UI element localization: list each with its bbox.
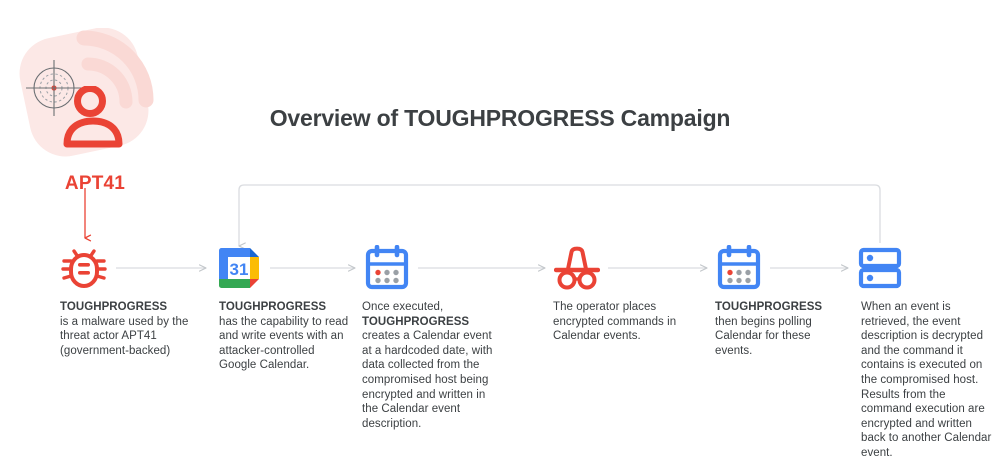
- calendar-event-icon: [364, 245, 410, 291]
- threat-actor-person-icon: [62, 86, 128, 148]
- calendar-event-icon: [716, 245, 762, 291]
- step-6-body: When an event is retrieved, the event de…: [861, 301, 991, 459]
- step-text-5: TOUGHPROGRESS then begins polling Calend…: [715, 300, 835, 358]
- step-text-3: Once executed, TOUGHPROGRESS creates a C…: [362, 300, 504, 431]
- step-text-6: When an event is retrieved, the event de…: [861, 300, 993, 461]
- apt41-label: APT41: [10, 173, 180, 195]
- step-text-4: The operator places encrypted commands i…: [553, 300, 681, 344]
- operator-incognito-icon: [554, 245, 600, 291]
- step-3-lead: Once executed,: [362, 301, 443, 313]
- step-2-body: has the capability to read and write eve…: [219, 316, 348, 372]
- apt41-actor-block: APT41: [10, 28, 180, 178]
- step-3-bold: TOUGHPROGRESS: [362, 316, 469, 328]
- google-calendar-icon: 31: [216, 245, 262, 291]
- step-1-bold: TOUGHPROGRESS: [60, 301, 167, 313]
- step-text-1: TOUGHPROGRESS is a malware used by the t…: [60, 300, 190, 358]
- step-3-body: creates a Calendar event at a hardcoded …: [362, 330, 492, 430]
- step-text-2: TOUGHPROGRESS has the capability to read…: [219, 300, 354, 373]
- bug-malware-icon: [61, 245, 107, 291]
- step-4-body: The operator places encrypted commands i…: [553, 301, 676, 342]
- server-icon: [857, 245, 903, 291]
- step-5-bold: TOUGHPROGRESS: [715, 301, 822, 313]
- feedback-loop-connector: [239, 185, 880, 246]
- calendar-day-number: 31: [230, 260, 249, 279]
- step-2-bold: TOUGHPROGRESS: [219, 301, 326, 313]
- step-5-body: then begins polling Calendar for these e…: [715, 316, 812, 357]
- step-1-body: is a malware used by the threat actor AP…: [60, 316, 188, 357]
